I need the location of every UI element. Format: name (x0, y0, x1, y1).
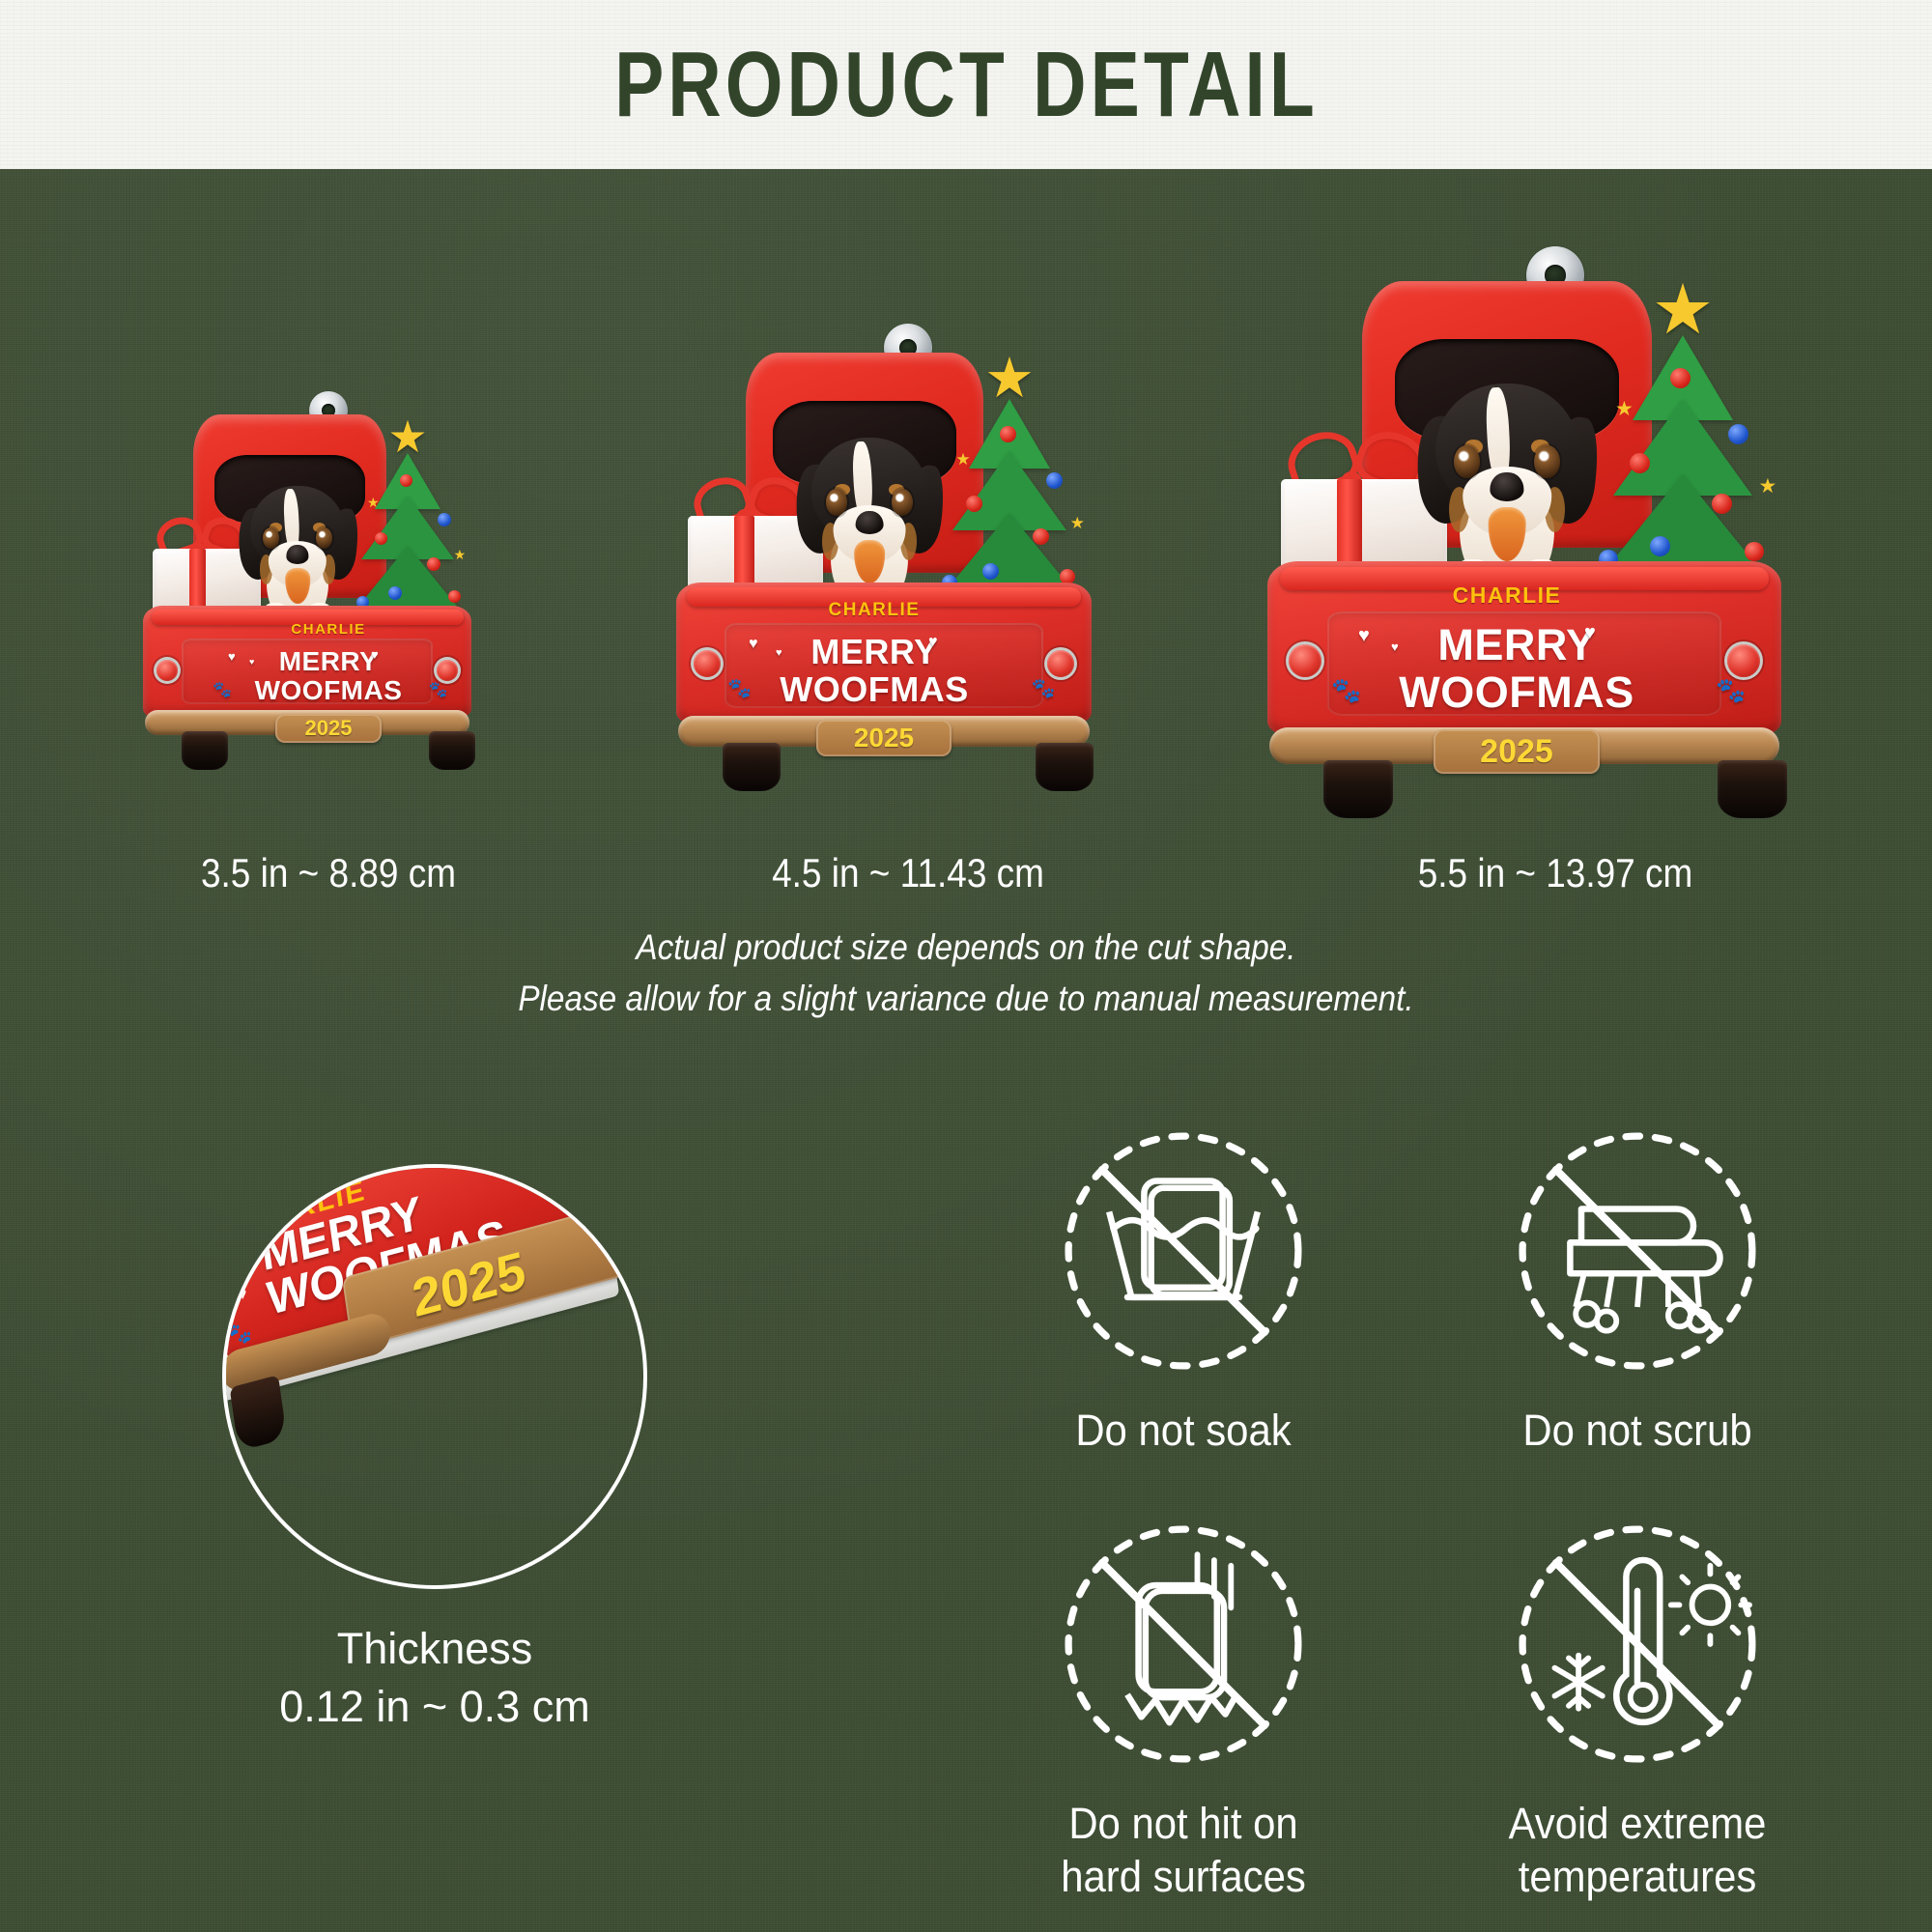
care-label-no-scrub: Do not scrub (1435, 1405, 1840, 1458)
wheel-right (1718, 760, 1787, 818)
size-comparison-row: ★ ★ ★ ★ (0, 169, 1932, 874)
size-caption-large: 5.5 in ~ 13.97 cm (1266, 850, 1844, 896)
slogan-line1: MERRY (279, 646, 379, 676)
slogan-line2: WOOFMAS (780, 669, 968, 709)
dog-eye-right (892, 489, 913, 516)
wheel-right (1036, 743, 1094, 791)
no-scrub-icon (1497, 1111, 1777, 1391)
slogan-line2: WOOFMAS (1399, 668, 1634, 717)
year-text: 2025 (1480, 733, 1553, 771)
slogan-line1: MERRY (1437, 620, 1595, 669)
thickness-caption: Thickness 0.12 in ~ 0.3 cm (184, 1620, 686, 1737)
page-header: PRODUCT DETAIL (0, 0, 1932, 169)
care-item-no-impact: Do not hit on hard surfaces (966, 1504, 1401, 1904)
dog-eye-left (826, 489, 847, 516)
care-item-no-soak: Do not soak (966, 1111, 1401, 1458)
care-item-no-scrub: Do not scrub (1420, 1111, 1855, 1458)
care-label-no-extreme-temp: Avoid extreme temperatures (1435, 1798, 1840, 1904)
disclaimer-line-1: Actual product size depends on the cut s… (97, 923, 1835, 974)
slogan-line2: WOOFMAS (255, 675, 403, 705)
dog-portrait (241, 486, 354, 623)
care-label-no-impact: Do not hit on hard surfaces (981, 1798, 1386, 1904)
year-plate-medium: 2025 (816, 720, 952, 756)
year-plate-small: 2025 (275, 714, 382, 743)
ornament-small: ★ ★ ★ ★ (135, 391, 522, 874)
pet-name-small: CHARLIE (135, 621, 522, 638)
thickness-zoom-circle: CHARLIE MERRY WOOFMAS ♥ ♥ 🐾 2025 (222, 1164, 647, 1589)
wheel-right (429, 731, 475, 770)
dog-eye-right (1534, 445, 1559, 478)
dog-eye-left (1454, 445, 1479, 478)
slogan-medium: ♥ ♥ ♥ MERRY 🐾 WOOFMAS 🐾 (633, 635, 1116, 707)
ornament-medium: ★ ★ ★ ★ (667, 324, 1150, 874)
size-option-small: ★ ★ ★ ★ (106, 333, 551, 874)
year-text: 2025 (305, 716, 353, 741)
dog-eye-right (316, 527, 332, 550)
size-option-large: ★ ★ ★ ★ (1227, 198, 1884, 874)
dog-portrait (1422, 384, 1592, 590)
pet-name-large: CHARLIE (1207, 582, 1806, 609)
year-plate-large: 2025 (1434, 729, 1600, 774)
thickness-section: CHARLIE MERRY WOOFMAS ♥ ♥ 🐾 2025 Thickne… (184, 1164, 686, 1737)
thickness-title: Thickness (184, 1620, 686, 1678)
dog-nose (856, 511, 884, 535)
no-impact-icon (1043, 1504, 1323, 1784)
dog-nose (286, 545, 308, 564)
care-item-no-extreme-temp: Avoid extreme temperatures (1420, 1504, 1855, 1904)
ornament-large: ★ ★ ★ ★ (1256, 246, 1855, 874)
page-title: PRODUCT DETAIL (614, 32, 1319, 138)
no-soak-icon (1043, 1111, 1323, 1391)
thickness-value: 0.12 in ~ 0.3 cm (184, 1678, 686, 1736)
slogan-large: ♥ ♥ ♥ MERRY 🐾 WOOFMAS 🐾 (1217, 623, 1816, 714)
no-extreme-temperature-icon (1497, 1504, 1777, 1784)
size-caption-medium: 4.5 in ~ 11.43 cm (670, 850, 1147, 896)
slogan-small: ♥ ♥ ♥ MERRY 🐾 WOOFMAS 🐾 (135, 648, 522, 704)
care-instructions-grid: Do not soak (966, 1111, 1855, 1904)
wheel-zoom (230, 1375, 287, 1451)
wheel-left (182, 731, 228, 770)
thickness-zoom-content: CHARLIE MERRY WOOFMAS ♥ ♥ 🐾 2025 (222, 1164, 647, 1589)
wheel-left (1323, 760, 1393, 818)
product-detail-page: PRODUCT DETAIL ★ (0, 0, 1932, 1932)
slogan-line1: MERRY (810, 632, 937, 671)
year-text: 2025 (854, 723, 914, 753)
dog-nose (1490, 472, 1523, 501)
size-disclaimer: Actual product size depends on the cut s… (97, 923, 1835, 1024)
size-caption-small: 3.5 in ~ 8.89 cm (133, 850, 525, 896)
care-label-no-soak: Do not soak (981, 1405, 1386, 1458)
wheel-left (723, 743, 781, 791)
size-option-medium: ★ ★ ★ ★ (638, 275, 1179, 874)
pet-name-medium: CHARLIE (633, 600, 1116, 621)
disclaimer-line-2: Please allow for a slight variance due t… (97, 974, 1835, 1025)
